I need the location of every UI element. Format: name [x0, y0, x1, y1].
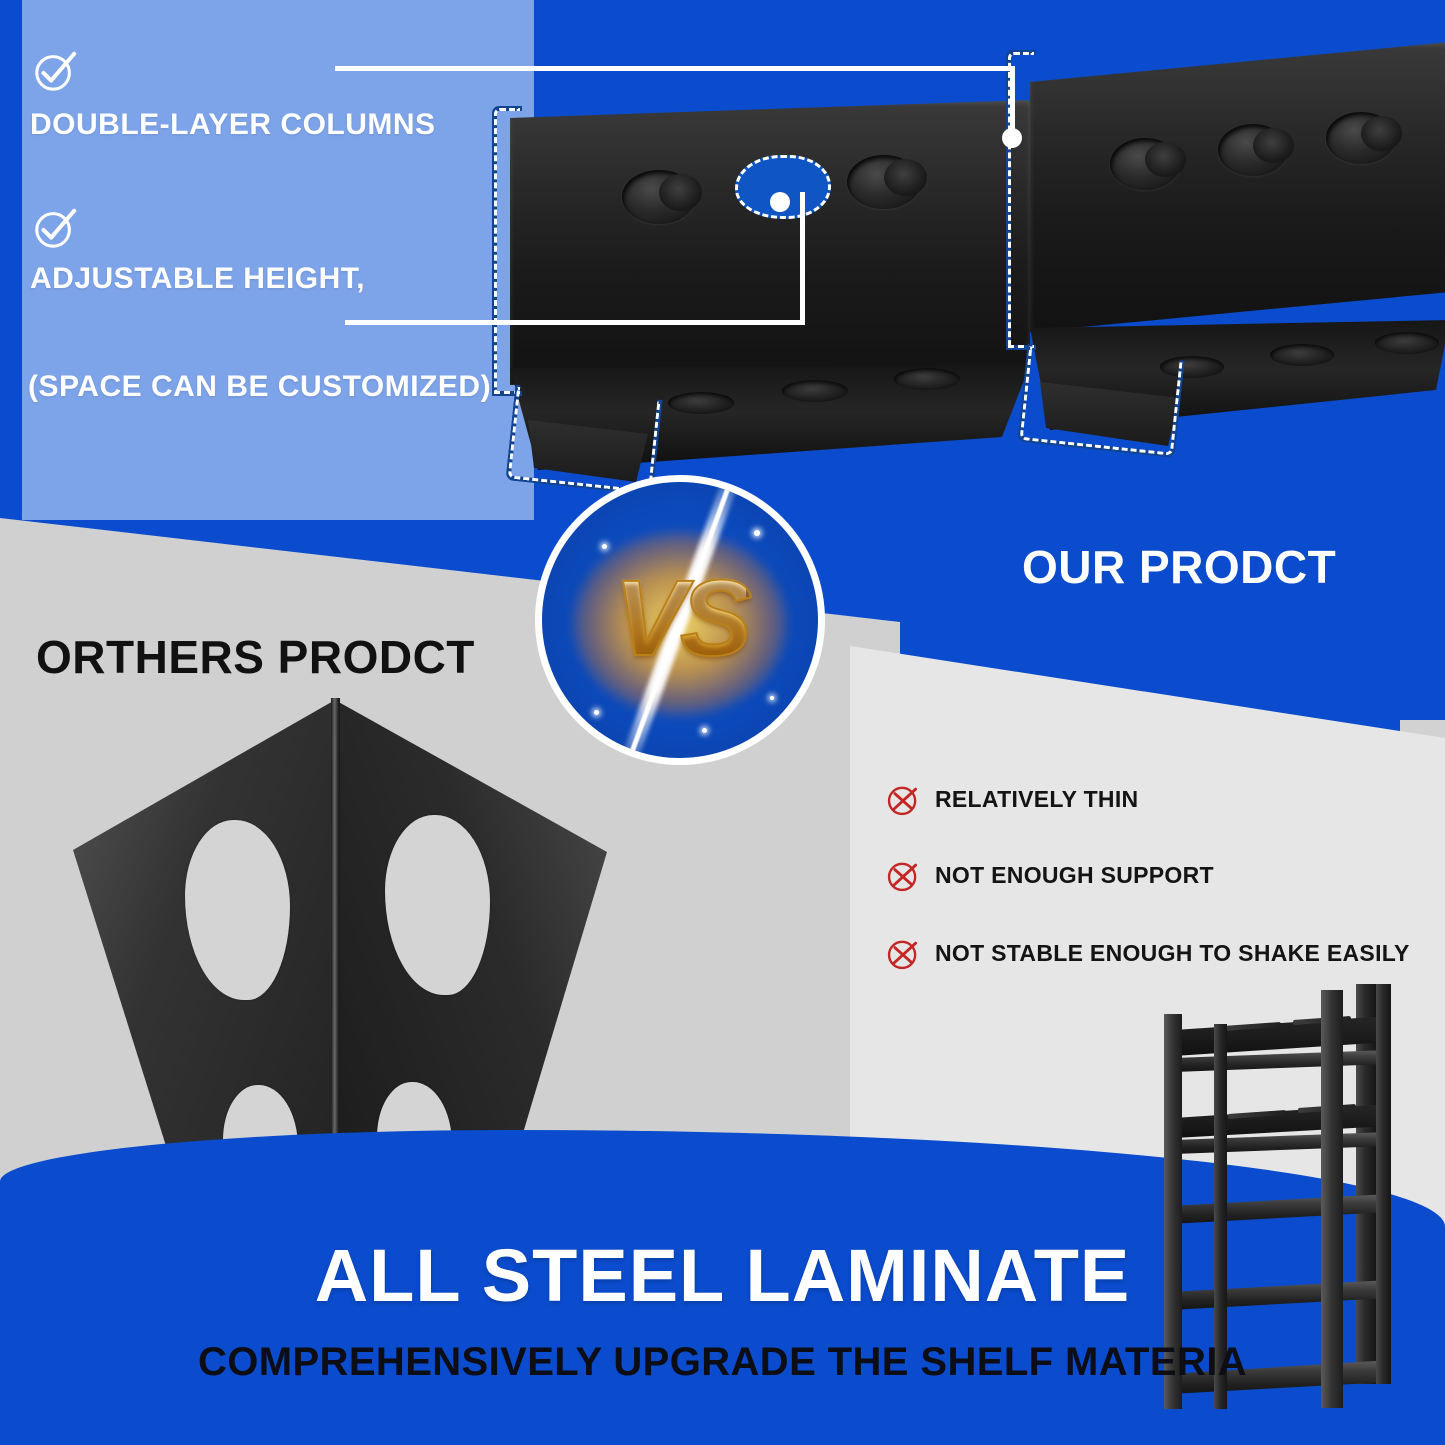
left-edge-strip [0, 0, 22, 520]
leader-line-mid-horizontal [345, 320, 805, 325]
banner-subtitle: COMPREHENSIVELY UPGRADE THE SHELF MATERI… [0, 1340, 1445, 1385]
x-circle-icon [885, 936, 921, 972]
x-circle-icon [885, 858, 921, 894]
floor-slot [668, 392, 734, 414]
drawback-label: NOT STABLE ENOUGH TO SHAKE EASILY [935, 940, 1410, 967]
drawback-label: NOT ENOUGH SUPPORT [935, 862, 1214, 889]
floor-slot [782, 380, 848, 402]
banner-title: ALL STEEL LAMINATE [0, 1233, 1445, 1318]
floor-slot [1160, 356, 1224, 378]
check-circle-icon [32, 48, 78, 94]
vs-label: VS [614, 555, 746, 680]
floor-slot [1375, 332, 1439, 354]
vs-spark [770, 696, 774, 700]
keyhole-slot [1110, 138, 1180, 190]
leader-line-top-vertical [1010, 66, 1015, 136]
keyhole-slot [1326, 112, 1396, 164]
steel-beam-photo [470, 20, 1445, 500]
keyhole-slot [847, 155, 921, 209]
leader-anchor-dot-top [1002, 128, 1022, 148]
feature-label: (SPACE CAN BE CUSTOMIZED) [28, 370, 491, 404]
post-corner-seam [331, 698, 340, 1200]
leader-line-top-horizontal [335, 66, 1015, 71]
features-panel [22, 0, 534, 520]
product-infographic: DOUBLE-LAYER COLUMNS ADJUSTABLE HEIGHT, … [0, 0, 1445, 1445]
others-product-heading: ORTHERS PRODCT [36, 630, 475, 684]
floor-slot [894, 368, 960, 390]
shelf-post-rear-far [1376, 984, 1391, 1384]
feature-label: DOUBLE-LAYER COLUMNS [30, 108, 436, 142]
x-circle-icon [885, 782, 921, 818]
keyhole-slot [622, 170, 696, 224]
beam-left-face [510, 100, 1030, 385]
check-circle-icon [32, 205, 78, 251]
our-product-heading: OUR PRODCT [1022, 540, 1336, 594]
shelf-post-rear-right [1356, 984, 1376, 1384]
callout-anchor-dot [770, 192, 790, 212]
vs-spark [754, 530, 760, 536]
leader-line-mid-vertical [800, 192, 805, 325]
vs-spark [702, 728, 707, 733]
vs-spark [602, 544, 607, 549]
beam-right-face [1030, 42, 1445, 332]
versus-burst-icon: VS [535, 475, 825, 765]
feature-label: ADJUSTABLE HEIGHT, [30, 262, 365, 296]
drawback-label: RELATIVELY THIN [935, 786, 1138, 813]
floor-slot [1270, 344, 1334, 366]
vs-spark [594, 710, 599, 715]
keyhole-slot [1218, 124, 1288, 176]
